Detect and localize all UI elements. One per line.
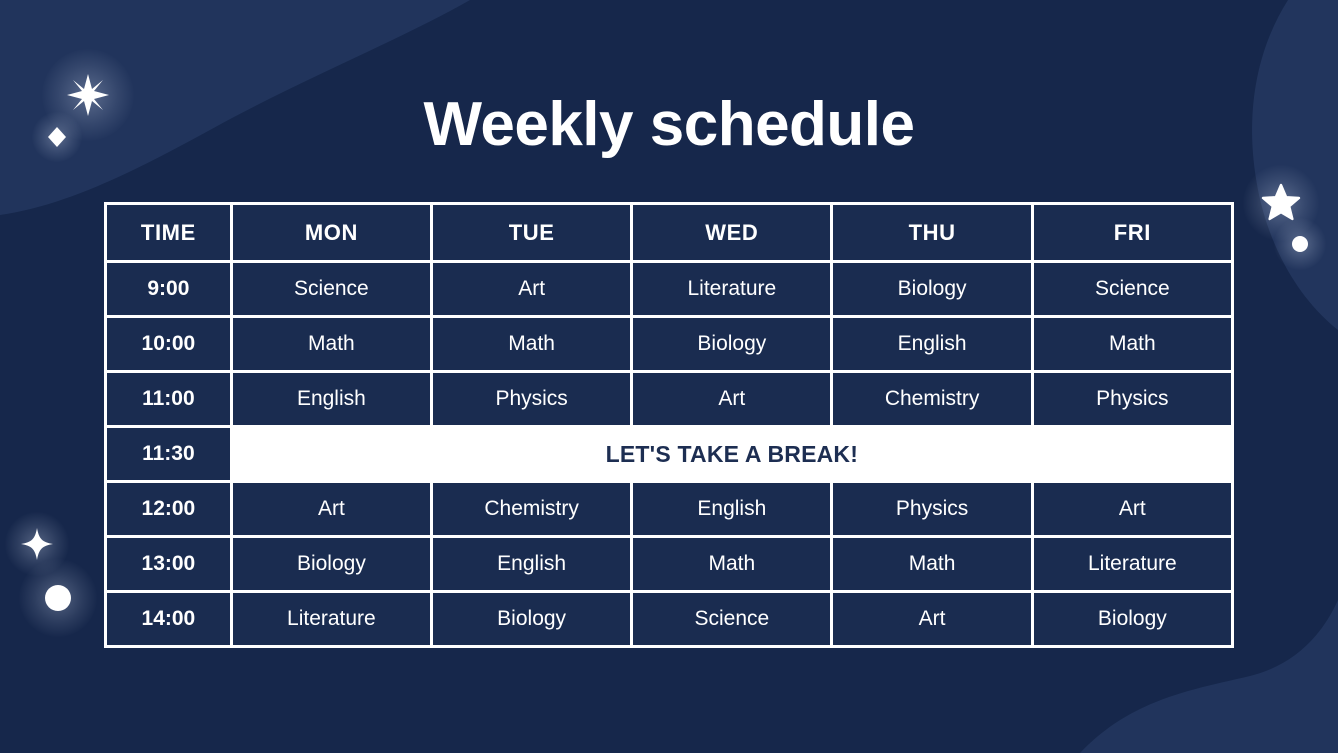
subject-cell: Art bbox=[633, 373, 830, 425]
subject-cell: Art bbox=[233, 483, 430, 535]
table-header-row: TIMEMONTUEWEDTHUFRI bbox=[107, 205, 1231, 260]
subject-cell: English bbox=[433, 538, 630, 590]
subject-cell: Literature bbox=[233, 593, 430, 645]
subject-cell: Art bbox=[833, 593, 1030, 645]
table-row: 13:00BiologyEnglishMathMathLiterature bbox=[107, 538, 1231, 590]
table-row: 10:00MathMathBiologyEnglishMath bbox=[107, 318, 1231, 370]
subject-cell: Math bbox=[233, 318, 430, 370]
time-cell: 10:00 bbox=[107, 318, 230, 370]
subject-cell: Physics bbox=[833, 483, 1030, 535]
page-title: Weekly schedule bbox=[0, 92, 1338, 157]
table-row: 9:00ScienceArtLiteratureBiologyScience bbox=[107, 263, 1231, 315]
column-header-fri: FRI bbox=[1034, 205, 1231, 260]
subject-cell: Literature bbox=[633, 263, 830, 315]
subject-cell: Physics bbox=[433, 373, 630, 425]
time-cell: 11:00 bbox=[107, 373, 230, 425]
subject-cell: English bbox=[233, 373, 430, 425]
subject-cell: Biology bbox=[1034, 593, 1231, 645]
time-cell: 11:30 bbox=[107, 428, 230, 480]
subject-cell: Biology bbox=[233, 538, 430, 590]
subject-cell: Science bbox=[633, 593, 830, 645]
column-header-tue: TUE bbox=[433, 205, 630, 260]
table-row: 14:00LiteratureBiologyScienceArtBiology bbox=[107, 593, 1231, 645]
column-header-mon: MON bbox=[233, 205, 430, 260]
table-row: 11:00EnglishPhysicsArtChemistryPhysics bbox=[107, 373, 1231, 425]
column-header-time: TIME bbox=[107, 205, 230, 260]
subject-cell: Science bbox=[1034, 263, 1231, 315]
subject-cell: Physics bbox=[1034, 373, 1231, 425]
time-cell: 12:00 bbox=[107, 483, 230, 535]
time-cell: 14:00 bbox=[107, 593, 230, 645]
subject-cell: Math bbox=[833, 538, 1030, 590]
subject-cell: Biology bbox=[833, 263, 1030, 315]
subject-cell: English bbox=[633, 483, 830, 535]
subject-cell: Science bbox=[233, 263, 430, 315]
subject-cell: Math bbox=[633, 538, 830, 590]
time-cell: 13:00 bbox=[107, 538, 230, 590]
subject-cell: Art bbox=[433, 263, 630, 315]
weekly-schedule-table: TIMEMONTUEWEDTHUFRI 9:00ScienceArtLitera… bbox=[104, 202, 1234, 648]
break-banner: LET'S TAKE A BREAK! bbox=[233, 428, 1231, 480]
subject-cell: Biology bbox=[633, 318, 830, 370]
subject-cell: Math bbox=[1034, 318, 1231, 370]
column-header-wed: WED bbox=[633, 205, 830, 260]
column-header-thu: THU bbox=[833, 205, 1030, 260]
subject-cell: Chemistry bbox=[833, 373, 1030, 425]
subject-cell: Literature bbox=[1034, 538, 1231, 590]
time-cell: 9:00 bbox=[107, 263, 230, 315]
table-row-break: 11:30LET'S TAKE A BREAK! bbox=[107, 428, 1231, 480]
subject-cell: Chemistry bbox=[433, 483, 630, 535]
table-row: 12:00ArtChemistryEnglishPhysicsArt bbox=[107, 483, 1231, 535]
subject-cell: Art bbox=[1034, 483, 1231, 535]
subject-cell: Biology bbox=[433, 593, 630, 645]
subject-cell: English bbox=[833, 318, 1030, 370]
subject-cell: Math bbox=[433, 318, 630, 370]
